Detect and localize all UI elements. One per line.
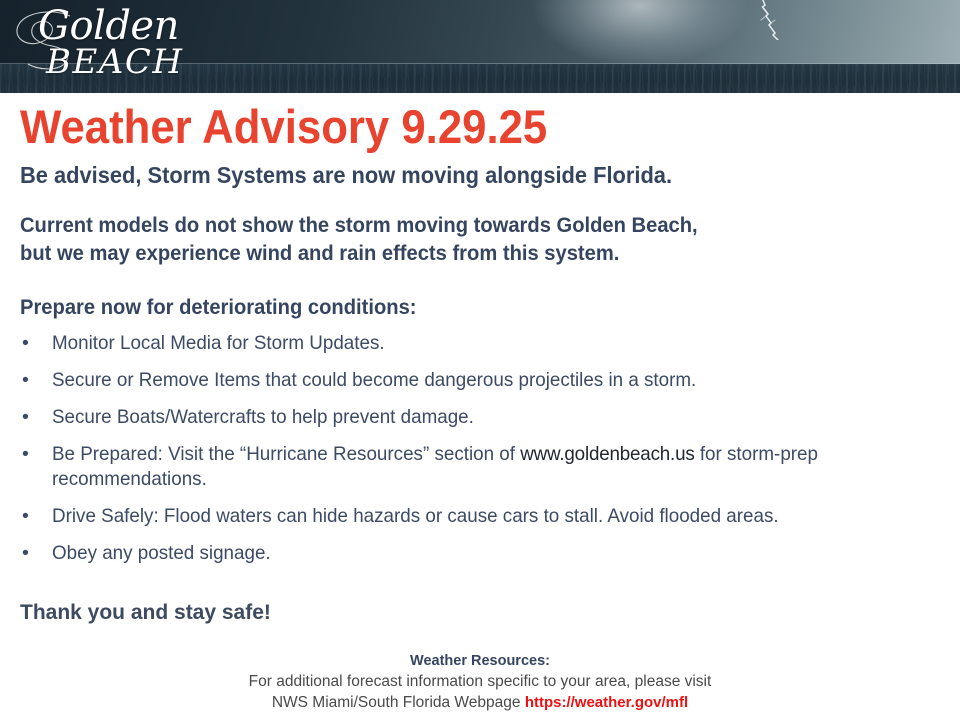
nws-weather-link[interactable]: https://weather.gov/mfl xyxy=(525,694,688,711)
prepare-heading: Prepare now for deteriorating conditions… xyxy=(20,295,417,321)
list-item-text: Be Prepared: Visit the “Hurricane Resour… xyxy=(52,442,899,492)
list-item: • Secure Boats/Watercrafts to help preve… xyxy=(20,405,930,430)
list-item-text: Monitor Local Media for Storm Updates. xyxy=(52,331,385,356)
page-title: Weather Advisory 9.29.25 xyxy=(20,101,547,153)
lightning-bolt-icon xyxy=(742,0,786,40)
list-item: • Be Prepared: Visit the “Hurricane Reso… xyxy=(20,442,930,492)
advisory-content: Weather Advisory 9.29.25 Be advised, Sto… xyxy=(0,93,960,720)
preparation-bullet-list: • Monitor Local Media for Storm Updates.… xyxy=(20,331,930,578)
footer-line-2: NWS Miami/South Florida Webpage https://… xyxy=(0,692,960,713)
footer-line-1: For additional forecast information spec… xyxy=(0,671,960,692)
list-item: • Secure or Remove Items that could beco… xyxy=(20,368,930,393)
advisory-body-paragraph: Current models do not show the storm mov… xyxy=(20,212,884,268)
advisory-body-line-1: Current models do not show the storm mov… xyxy=(20,212,884,240)
bullet-icon: • xyxy=(22,541,29,566)
footer: Weather Resources: For additional foreca… xyxy=(0,651,960,713)
goldenbeach-website-link[interactable]: www.goldenbeach.us xyxy=(520,443,694,465)
bullet-icon: • xyxy=(22,442,29,467)
bullet-icon: • xyxy=(22,331,29,356)
list-item-text: Secure Boats/Watercrafts to help prevent… xyxy=(52,405,474,430)
list-item: • Monitor Local Media for Storm Updates. xyxy=(20,331,930,356)
logo-text-beach: BEACH xyxy=(46,42,184,82)
closing-message: Thank you and stay safe! xyxy=(20,600,271,626)
list-item-text-pre: Be Prepared: Visit the “Hurricane Resour… xyxy=(52,443,520,465)
header-banner: Golden BEACH xyxy=(0,0,960,93)
bullet-icon: • xyxy=(22,504,29,529)
advisory-subtitle: Be advised, Storm Systems are now moving… xyxy=(20,161,672,189)
golden-beach-logo: Golden BEACH xyxy=(10,2,195,90)
list-item-text: Obey any posted signage. xyxy=(52,541,271,566)
bullet-icon: • xyxy=(22,368,29,393)
list-item: • Obey any posted signage. xyxy=(20,541,930,566)
advisory-body-line-2: but we may experience wind and rain effe… xyxy=(20,240,884,268)
footer-heading: Weather Resources: xyxy=(0,651,960,671)
footer-line-2-prefix: NWS Miami/South Florida Webpage xyxy=(272,694,525,711)
list-item-text: Secure or Remove Items that could become… xyxy=(52,368,696,393)
list-item-text: Drive Safely: Flood waters can hide haza… xyxy=(52,504,779,529)
bullet-icon: • xyxy=(22,405,29,430)
list-item: • Drive Safely: Flood waters can hide ha… xyxy=(20,504,930,529)
